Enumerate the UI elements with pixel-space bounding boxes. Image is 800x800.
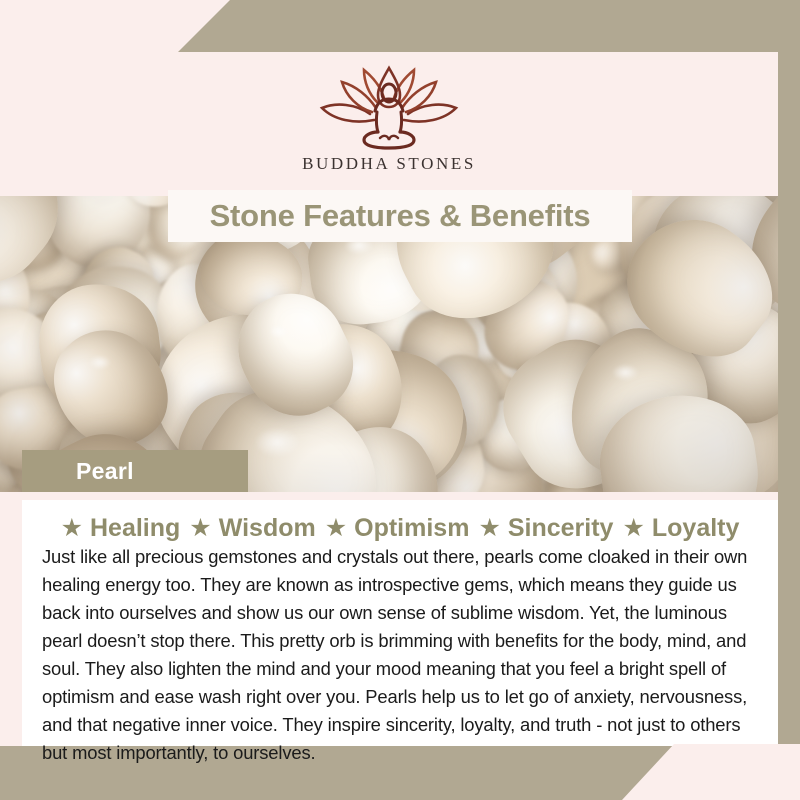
star-icon: ★	[478, 516, 500, 541]
keyword-item: ★Sincerity	[478, 516, 613, 541]
keyword-item: ★Wisdom	[189, 516, 315, 541]
keyword-label: Sincerity	[508, 516, 614, 541]
keyword-list: ★Healing★Wisdom★Optimism★Sincerity★Loyal…	[42, 516, 758, 541]
keyword-label: Healing	[90, 516, 180, 541]
content-panel: BUDDHA STONES Pearl ★Healing★Wisdom★Opti…	[0, 52, 778, 746]
keyword-item: ★Optimism	[325, 516, 470, 541]
stone-name-bar: Pearl	[22, 450, 248, 492]
keyword-label: Wisdom	[219, 516, 316, 541]
brand-name: BUDDHA STONES	[302, 154, 476, 174]
stone-description: Just like all precious gemstones and cry…	[42, 543, 758, 767]
star-icon: ★	[189, 516, 211, 541]
brand-header: BUDDHA STONES	[0, 52, 778, 196]
page-title: Stone Features & Benefits	[210, 198, 591, 234]
pearl-highlight	[254, 427, 302, 458]
infographic-page: BUDDHA STONES Pearl ★Healing★Wisdom★Opti…	[0, 0, 800, 800]
corner-notch-top-left	[0, 0, 230, 52]
stone-name-label: Pearl	[76, 458, 134, 485]
star-icon: ★	[61, 516, 83, 541]
star-icon: ★	[622, 516, 644, 541]
pearl-highlight	[612, 364, 639, 382]
keyword-item: ★Loyalty	[622, 516, 739, 541]
title-banner: Stone Features & Benefits	[168, 190, 632, 242]
keyword-label: Loyalty	[652, 516, 740, 541]
star-icon: ★	[325, 516, 347, 541]
lotus-meditation-icon	[314, 62, 464, 150]
description-card: ★Healing★Wisdom★Optimism★Sincerity★Loyal…	[22, 500, 778, 746]
keyword-label: Optimism	[354, 516, 469, 541]
keyword-item: ★Healing	[61, 516, 181, 541]
pearl-highlight	[269, 325, 289, 338]
